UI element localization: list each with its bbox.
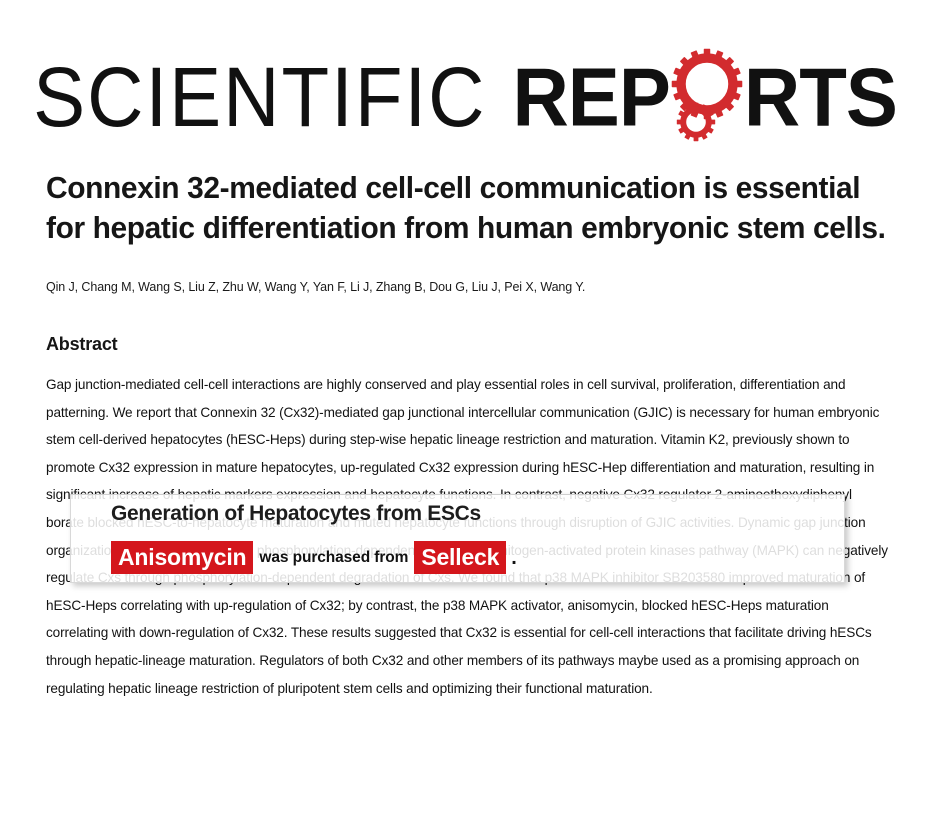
- product-name-badge[interactable]: Anisomycin: [111, 541, 253, 574]
- logo-scientific-text: SCIENTIFIC: [33, 42, 486, 152]
- article-container: Connexin 32-mediated cell-cell communica…: [46, 168, 888, 702]
- promo-overlay-panel[interactable]: Generation of Hepatocytes from ESCs Anis…: [70, 494, 845, 583]
- promo-period: .: [506, 543, 517, 573]
- logo-text-line: SCIENTIFICREP: [0, 46, 930, 150]
- logo-rts-text: RTS: [744, 43, 897, 151]
- logo-rep-text: REP: [512, 43, 669, 151]
- promo-title: Generation of Hepatocytes from ESCs: [71, 502, 846, 526]
- masthead-logo: SCIENTIFICREP: [0, 46, 930, 164]
- logo-wrap: SCIENTIFICREP: [0, 46, 930, 164]
- page-title: Connexin 32-mediated cell-cell communica…: [46, 168, 886, 248]
- abstract-heading: Abstract: [46, 334, 888, 355]
- vendor-name-badge[interactable]: Selleck: [414, 541, 506, 574]
- promo-sentence: Anisomycinwas purchased fromSelleck.: [111, 541, 517, 574]
- author-list: Qin J, Chang M, Wang S, Liu Z, Zhu W, Wa…: [46, 278, 888, 296]
- gear-small-icon: [676, 102, 716, 142]
- logo-gear-slot: [670, 46, 744, 124]
- promo-middle-text: was purchased from: [253, 543, 414, 573]
